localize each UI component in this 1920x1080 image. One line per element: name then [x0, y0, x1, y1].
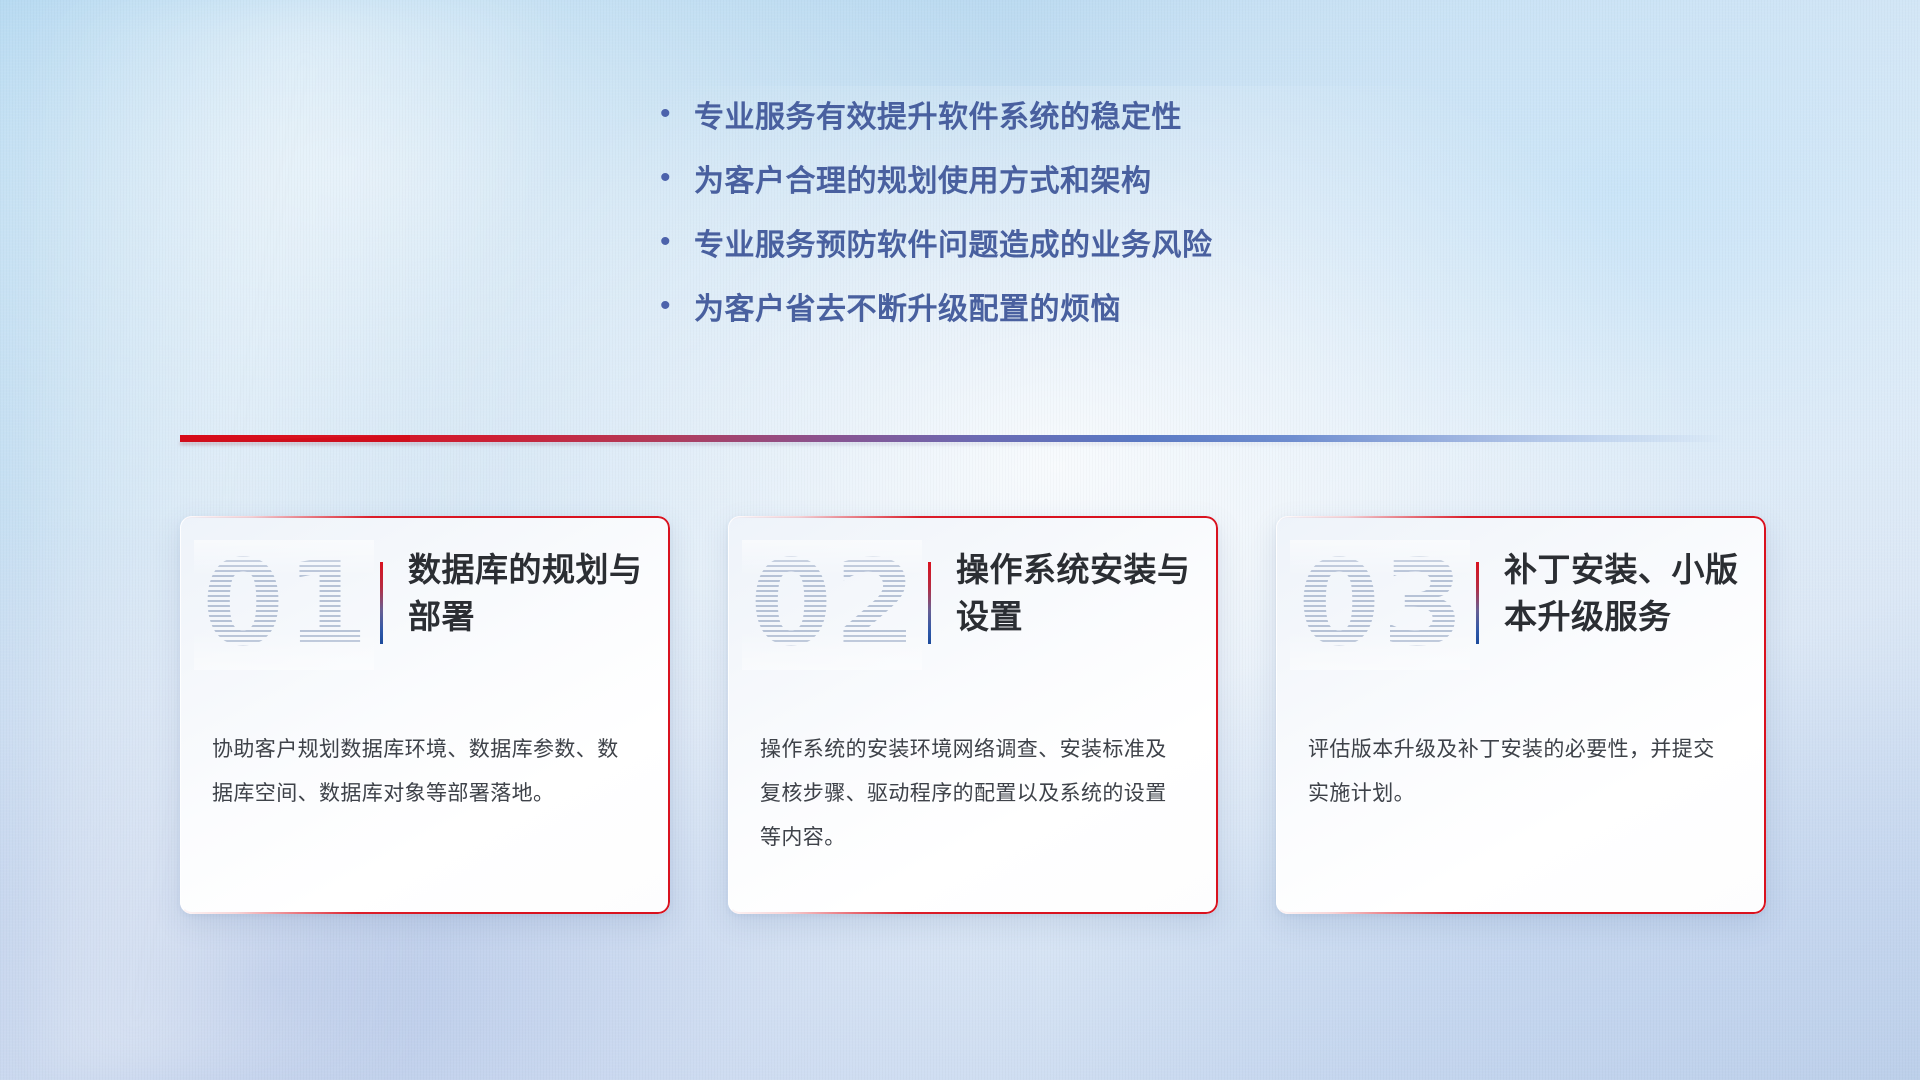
bullet-item-label: 专业服务预防软件问题造成的业务风险 [694, 220, 1213, 264]
bullet-dot-icon: • [660, 99, 694, 129]
bullet-item-label: 为客户合理的规划使用方式和架构 [694, 156, 1152, 200]
card-description: 操作系统的安装环境网络调查、安装标准及复核步骤、驱动程序的配置以及系统的设置等内… [760, 728, 1186, 860]
bullet-item-2: • 为客户合理的规划使用方式和架构 [660, 156, 1480, 220]
card-accent-bar [928, 562, 931, 644]
bullet-item-label: 为客户省去不断升级配置的烦恼 [694, 284, 1121, 328]
card-title: 补丁安装、小版本升级服务 [1504, 546, 1754, 640]
bullet-item-label: 专业服务有效提升软件系统的稳定性 [694, 92, 1182, 136]
service-card-01[interactable]: 01 数据库的规划与部署 协助客户规划数据库环境、数据库参数、数据库空间、数据库… [180, 516, 670, 914]
divider-shadow [180, 442, 1540, 445]
service-card-03[interactable]: 03 补丁安装、小版本升级服务 评估版本升级及补丁安装的必要性，并提交实施计划。 [1276, 516, 1766, 914]
card-number-watermark: 02 [750, 544, 910, 662]
benefits-bullet-list: • 专业服务有效提升软件系统的稳定性 • 为客户合理的规划使用方式和架构 • 专… [660, 92, 1480, 348]
card-title: 操作系统安装与设置 [956, 546, 1206, 640]
bullet-dot-icon: • [660, 291, 694, 321]
service-card-02[interactable]: 02 操作系统安装与设置 操作系统的安装环境网络调查、安装标准及复核步骤、驱动程… [728, 516, 1218, 914]
divider-gradient-line [180, 435, 1725, 442]
section-divider [180, 428, 1725, 446]
bullet-item-1: • 专业服务有效提升软件系统的稳定性 [660, 92, 1480, 156]
card-accent-bar [380, 562, 383, 644]
card-header: 01 数据库的规划与部署 [180, 516, 670, 716]
card-number-watermark: 03 [1298, 544, 1458, 662]
bullet-item-3: • 专业服务预防软件问题造成的业务风险 [660, 220, 1480, 284]
bullet-item-4: • 为客户省去不断升级配置的烦恼 [660, 284, 1480, 348]
card-accent-bar [1476, 562, 1479, 644]
bullet-dot-icon: • [660, 163, 694, 193]
card-number-watermark: 01 [202, 544, 362, 662]
card-header: 03 补丁安装、小版本升级服务 [1276, 516, 1766, 716]
card-description: 协助客户规划数据库环境、数据库参数、数据库空间、数据库对象等部署落地。 [212, 728, 638, 816]
bullet-dot-icon: • [660, 227, 694, 257]
service-card-list: 01 数据库的规划与部署 协助客户规划数据库环境、数据库参数、数据库空间、数据库… [180, 516, 1766, 914]
card-description: 评估版本升级及补丁安装的必要性，并提交实施计划。 [1308, 728, 1734, 816]
card-title: 数据库的规划与部署 [408, 546, 658, 640]
card-header: 02 操作系统安装与设置 [728, 516, 1218, 716]
